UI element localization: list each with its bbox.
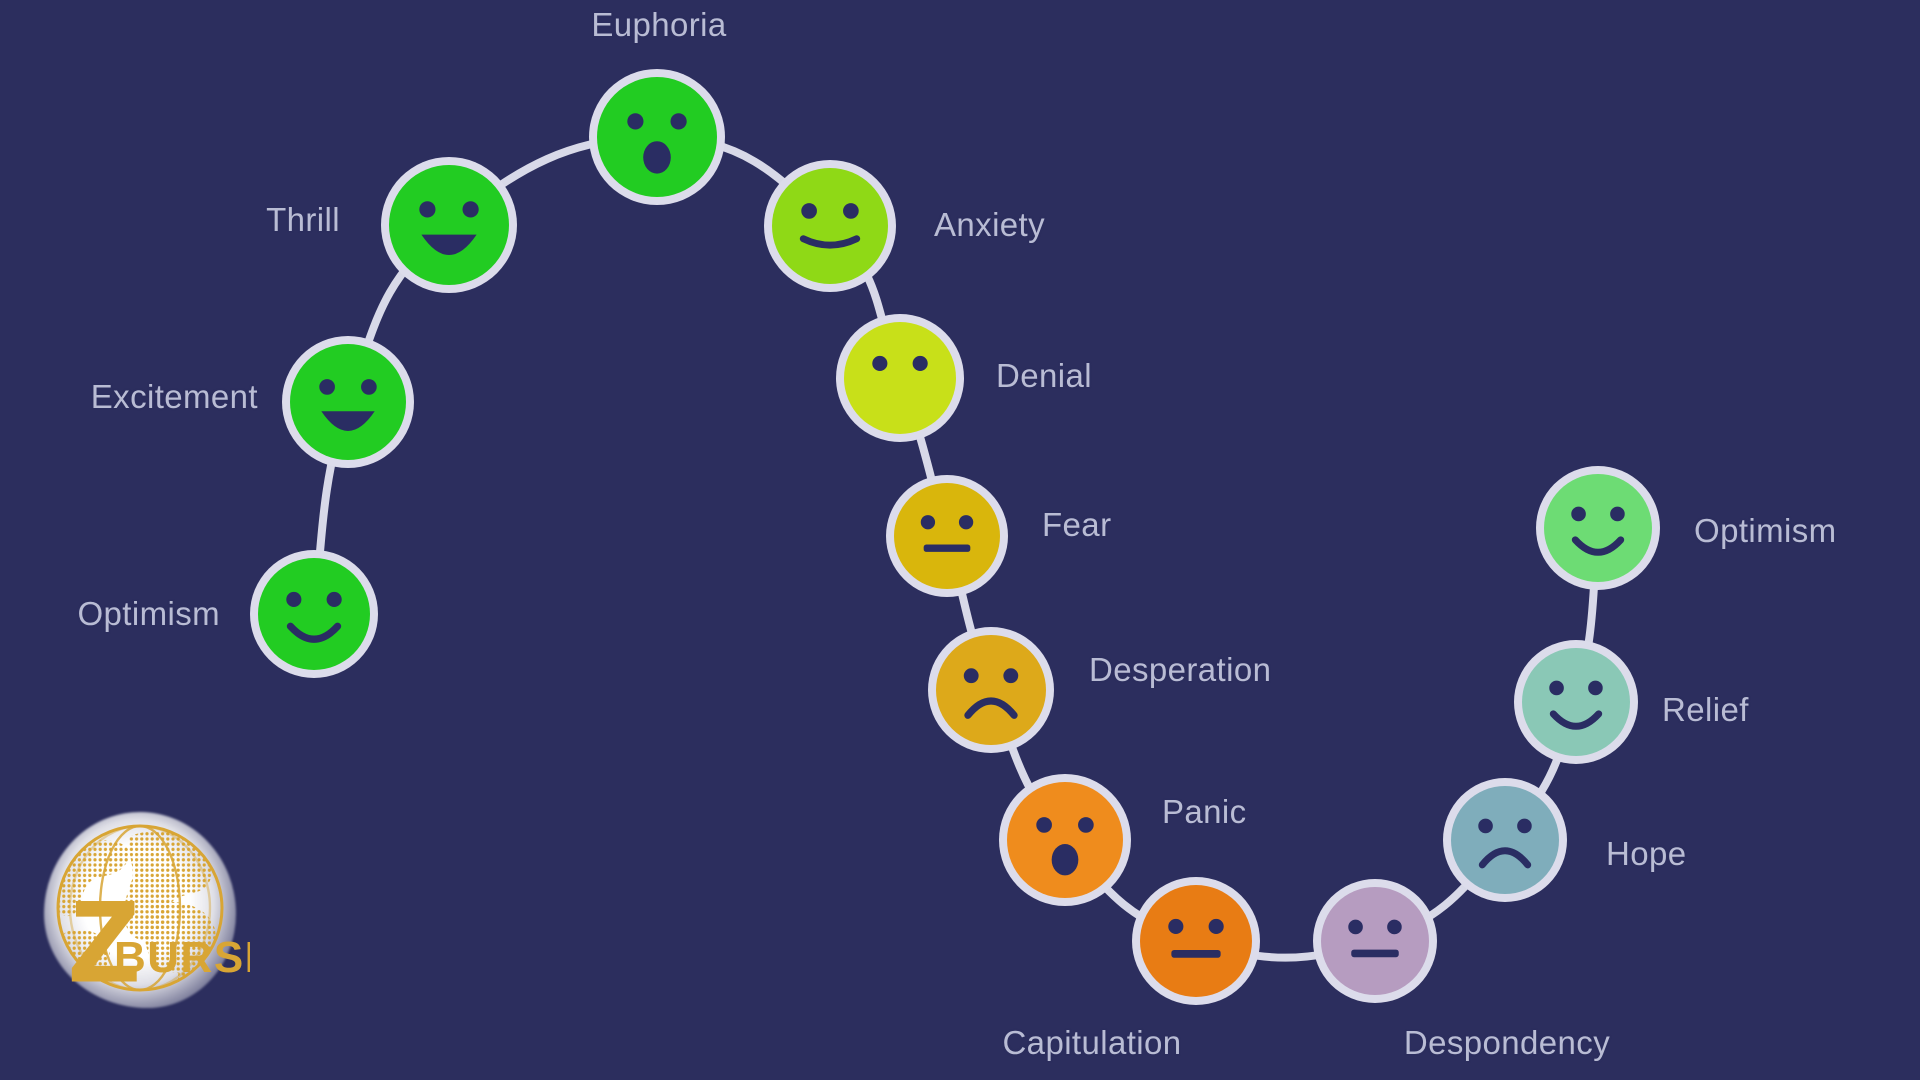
left-eye — [419, 201, 435, 217]
right-eye — [843, 203, 859, 219]
right-eye — [1003, 668, 1018, 683]
left-eye — [1348, 920, 1363, 935]
right-eye — [1517, 819, 1532, 834]
mouth-bar — [1171, 950, 1220, 958]
face-circle — [597, 77, 717, 197]
emotion-label-despondency: Despondency — [1404, 1024, 1610, 1062]
globe-icon: Z BURSE — [30, 800, 250, 1020]
mouth-bar — [1351, 950, 1399, 958]
right-eye — [1610, 507, 1625, 522]
face-circle — [844, 322, 956, 434]
emotion-label-relief: Relief — [1662, 691, 1749, 729]
face-circle — [290, 344, 406, 460]
face-circle — [1451, 786, 1559, 894]
emotion-label-anxiety: Anxiety — [934, 206, 1045, 244]
left-eye — [319, 379, 335, 395]
right-eye — [1209, 919, 1224, 934]
face-circle — [1007, 782, 1123, 898]
emotion-label-desperation: Desperation — [1089, 651, 1271, 689]
emotion-node-panic[interactable] — [999, 774, 1131, 906]
emotion-label-hope: Hope — [1606, 835, 1687, 873]
face-circle — [1140, 885, 1252, 997]
emotion-node-excitement[interactable] — [282, 336, 414, 468]
right-eye — [1078, 817, 1094, 833]
emotion-label-denial: Denial — [996, 357, 1092, 395]
face-circle — [1544, 474, 1652, 582]
face-circle — [389, 165, 509, 285]
left-eye — [1478, 819, 1493, 834]
face-circle — [936, 635, 1046, 745]
left-eye — [627, 113, 643, 129]
face-circle — [1522, 648, 1630, 756]
face-circle — [258, 558, 370, 670]
left-eye — [1036, 817, 1052, 833]
mouth-shock — [643, 141, 671, 173]
emotion-node-capitulation[interactable] — [1132, 877, 1260, 1005]
left-eye — [286, 592, 301, 607]
right-eye — [361, 379, 377, 395]
left-eye — [921, 515, 935, 529]
left-eye — [1571, 507, 1586, 522]
logo-wordmark: BURSE — [114, 933, 250, 982]
emotion-node-thrill[interactable] — [381, 157, 517, 293]
emotion-label-thrill: Thrill — [266, 201, 340, 239]
face-circle — [772, 168, 888, 284]
mouth-bar — [924, 544, 971, 551]
emotion-node-relief[interactable] — [1514, 640, 1638, 764]
emotion-node-optimism-end[interactable] — [1536, 466, 1660, 590]
emotion-label-excitement: Excitement — [91, 378, 258, 416]
left-eye — [1168, 919, 1183, 934]
emotion-cycle-canvas: OptimismExcitementThrillEuphoriaAnxietyD… — [0, 0, 1920, 1080]
left-eye — [872, 356, 887, 371]
right-eye — [327, 592, 342, 607]
emotion-node-anxiety[interactable] — [764, 160, 896, 292]
right-eye — [463, 201, 479, 217]
right-eye — [1387, 920, 1402, 935]
left-eye — [1549, 681, 1564, 696]
face-circle — [1321, 887, 1429, 995]
emotion-node-euphoria[interactable] — [589, 69, 725, 205]
emotion-label-optimism-start: Optimism — [77, 595, 220, 633]
brand-logo[interactable]: Z BURSE — [30, 800, 250, 1020]
face-circle — [894, 483, 1000, 589]
emotion-node-denial[interactable] — [836, 314, 964, 442]
left-eye — [801, 203, 817, 219]
emotion-label-euphoria: Euphoria — [591, 6, 726, 44]
emotion-cycle-diagram — [0, 0, 1920, 1080]
right-eye — [959, 515, 973, 529]
right-eye — [913, 356, 928, 371]
emotion-label-panic: Panic — [1162, 793, 1247, 831]
emotion-node-optimism-start[interactable] — [250, 550, 378, 678]
right-eye — [671, 113, 687, 129]
right-eye — [1588, 681, 1603, 696]
left-eye — [964, 668, 979, 683]
emotion-node-fear[interactable] — [886, 475, 1008, 597]
emotion-label-capitulation: Capitulation — [1002, 1024, 1181, 1062]
emotion-node-desperation[interactable] — [928, 627, 1054, 753]
mouth-shock — [1052, 844, 1079, 875]
emotion-label-fear: Fear — [1042, 506, 1111, 544]
emotion-node-despondency[interactable] — [1313, 879, 1437, 1003]
emotion-node-hope[interactable] — [1443, 778, 1567, 902]
emotion-label-optimism-end: Optimism — [1694, 512, 1837, 550]
